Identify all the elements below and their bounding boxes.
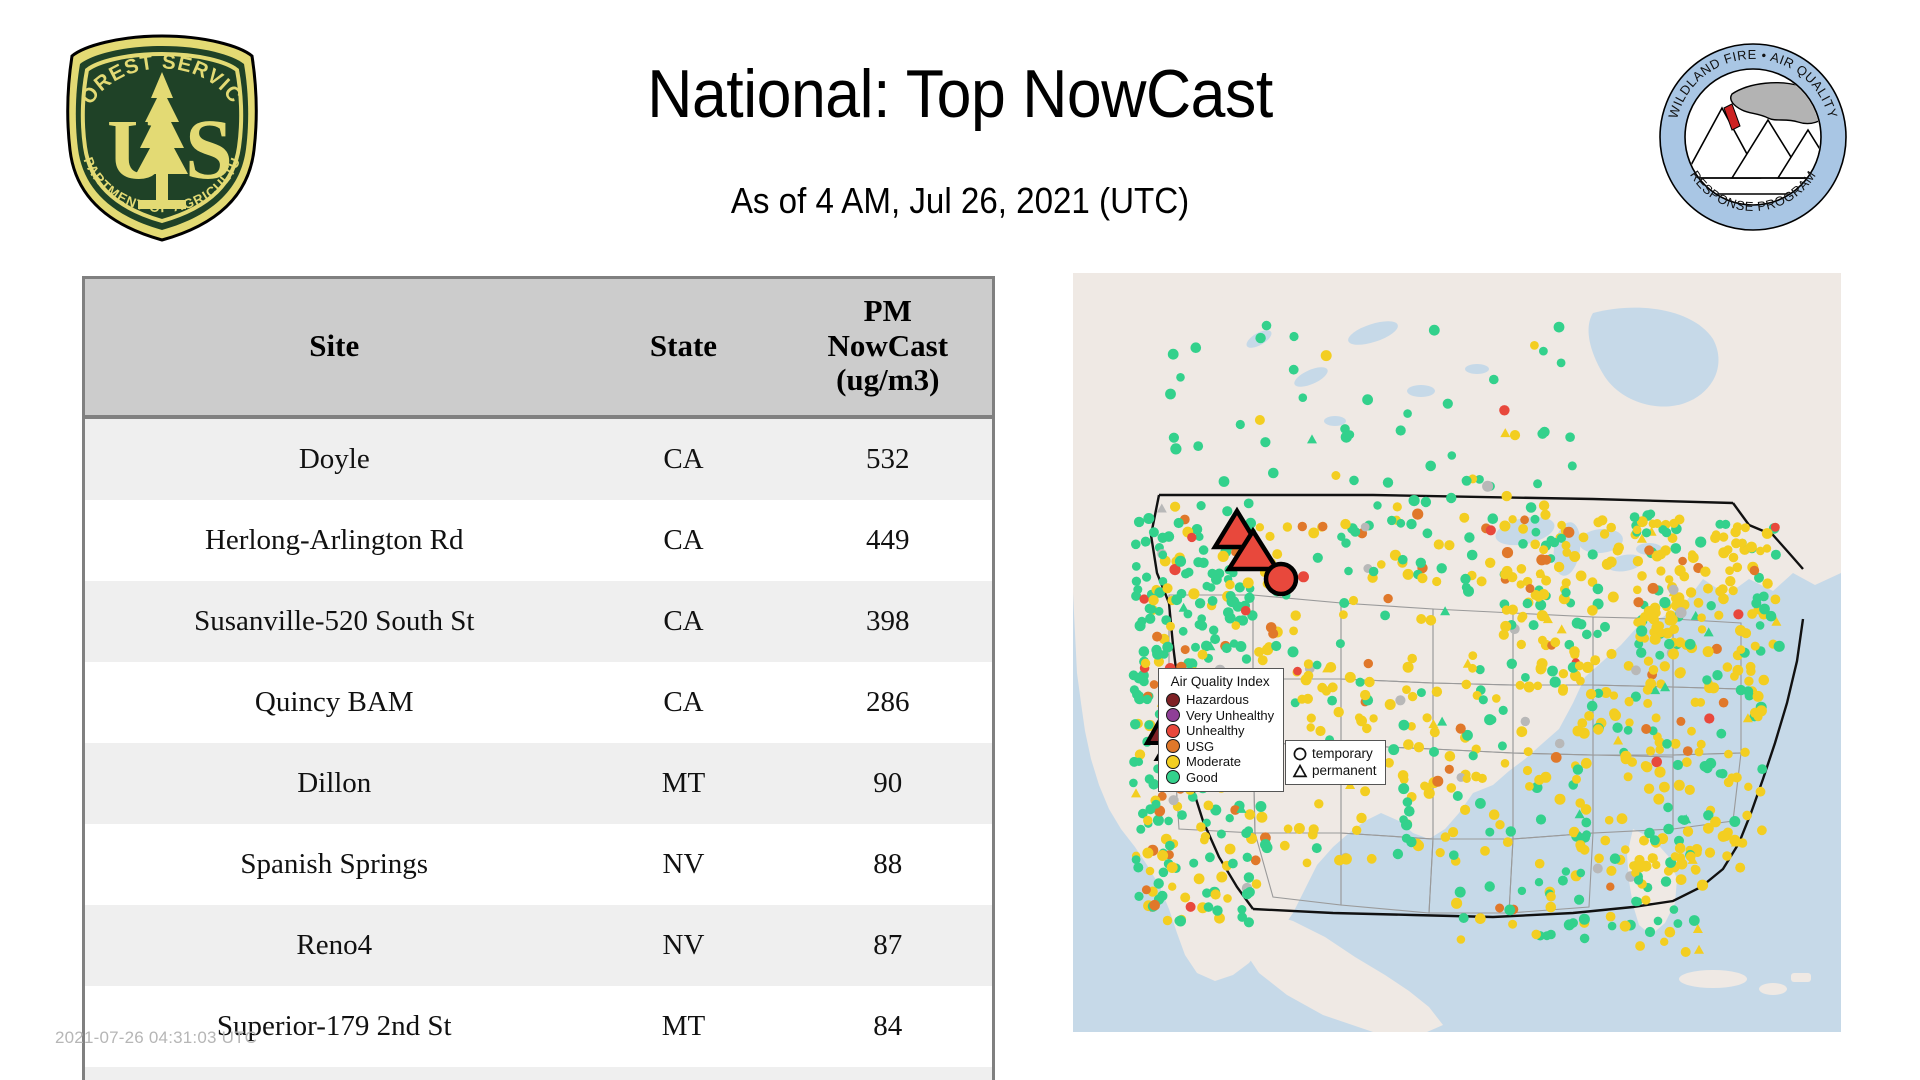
map-monitor-dot <box>1469 751 1478 760</box>
map-monitor-dot <box>1181 569 1190 578</box>
map-monitor-dot <box>1455 887 1466 898</box>
map-monitor-dot <box>1502 605 1511 614</box>
map-monitor-dot <box>1315 726 1325 736</box>
map-monitor-dot <box>1669 624 1679 634</box>
map-monitor-dot <box>1652 713 1661 722</box>
map-monitor-dot <box>1441 832 1451 842</box>
page-subtitle: As of 4 AM, Jul 26, 2021 (UTC) <box>445 180 1475 222</box>
map-monitor-dot <box>1425 461 1436 472</box>
map-monitor-dot <box>1437 563 1447 573</box>
map-monitor-dot <box>1225 580 1234 589</box>
map-monitor-dot <box>1404 806 1415 817</box>
map-monitor-dot <box>1167 862 1178 873</box>
map-monitor-dot <box>1222 506 1232 516</box>
map-monitor-dot <box>1581 804 1592 815</box>
map-monitor-dot <box>1303 694 1313 704</box>
map-monitor-dot <box>1479 695 1488 704</box>
map-monitor-dot <box>1757 825 1767 835</box>
map-monitor-dot <box>1750 566 1760 576</box>
map-monitor-dot <box>1133 585 1142 594</box>
aqi-legend-label: Unhealthy <box>1186 724 1245 737</box>
map-monitor-dot <box>1637 861 1647 871</box>
map-monitor-dot <box>1593 864 1603 874</box>
map-monitor-dot <box>1314 799 1323 808</box>
map-monitor-dot <box>1582 630 1592 640</box>
map-monitor-dot <box>1293 667 1302 676</box>
map-monitor-dot <box>1633 897 1642 906</box>
map-monitor-dot <box>1718 831 1729 842</box>
aqi-legend-swatch-icon <box>1166 739 1180 753</box>
map-monitor-dot <box>1307 723 1315 731</box>
map-monitor-dot <box>1294 823 1305 834</box>
map-monitor-dot <box>1364 677 1374 687</box>
map-monitor-dot <box>1176 373 1185 382</box>
map-monitor-dot <box>1771 523 1780 532</box>
map-monitor-dot <box>1406 837 1416 847</box>
map-monitor-dot <box>1134 892 1143 901</box>
map-monitor-dot <box>1688 552 1699 563</box>
map-monitor-dot <box>1536 569 1545 578</box>
map-monitor-dot <box>1486 525 1496 535</box>
top-nowcast-table: Site State PM NowCast (ug/m3) DoyleCA532… <box>82 276 995 1080</box>
map-monitor-dot <box>1429 747 1439 757</box>
map-monitor-dot <box>1673 760 1683 770</box>
map-monitor-dot <box>1403 797 1413 807</box>
map-monitor-dot <box>1703 584 1713 594</box>
map-monitor-dot <box>1165 841 1175 851</box>
map-monitor-dot <box>1524 747 1533 756</box>
map-monitor-dot <box>1737 645 1746 654</box>
map-monitor-dot <box>1575 661 1584 670</box>
map-monitor-dot <box>1142 848 1153 859</box>
table-cell-site: Herlong-Arlington Rd <box>84 500 584 581</box>
map-monitor-dot <box>1243 853 1252 862</box>
air-quality-monitor-map[interactable]: Air Quality Index HazardousVery Unhealth… <box>1073 273 1841 1032</box>
map-monitor-dot <box>1393 502 1402 511</box>
map-monitor-dot <box>1135 758 1143 766</box>
map-monitor-dot <box>1432 687 1442 697</box>
map-monitor-dot <box>1507 659 1517 669</box>
map-monitor-dot <box>1635 941 1645 951</box>
map-monitor-dot <box>1312 843 1322 853</box>
map-monitor-dot <box>1510 430 1520 440</box>
map-monitor-dot <box>1457 935 1466 944</box>
wildland-fire-air-quality-response-program-logo: WILDLAND FIRE • AIR QUALITY RESPONSE PRO… <box>1658 42 1848 232</box>
map-monitor-dot <box>1171 594 1182 605</box>
map-monitor-dot <box>1406 519 1416 529</box>
map-monitor-dot <box>1364 659 1373 668</box>
map-monitor-dot <box>1579 533 1589 543</box>
table-cell-state: NV <box>584 824 784 905</box>
map-monitor-dot <box>1187 533 1196 542</box>
map-monitor-dot <box>1665 927 1676 938</box>
map-monitor-dot <box>1675 607 1686 618</box>
map-monitor-dot <box>1645 927 1655 937</box>
map-monitor-dot <box>1718 584 1728 594</box>
map-monitor-dot <box>1725 566 1734 575</box>
map-monitor-dot <box>1245 809 1256 820</box>
map-monitor-dot <box>1762 578 1772 588</box>
map-monitor-dot <box>1228 859 1238 869</box>
map-monitor-dot <box>1387 516 1396 525</box>
map-monitor-dot <box>1385 699 1396 710</box>
map-monitor-dot <box>1193 441 1203 451</box>
map-monitor-dot <box>1226 814 1234 822</box>
map-monitor-dot <box>1586 689 1596 699</box>
map-monitor-dot <box>1403 739 1414 750</box>
map-monitor-dot <box>1696 698 1705 707</box>
map-monitor-dot <box>1633 526 1642 535</box>
map-monitor-dot <box>1396 519 1405 528</box>
map-monitor-dot <box>1143 816 1152 825</box>
map-monitor-dot <box>1663 803 1673 813</box>
map-monitor-dot <box>1582 830 1591 839</box>
map-monitor-dot <box>1216 872 1227 883</box>
map-monitor-dot <box>1715 520 1724 529</box>
map-monitor-dot <box>1608 592 1619 603</box>
map-monitor-dot <box>1524 682 1535 693</box>
map-monitor-dot <box>1689 915 1700 926</box>
map-monitor-dot <box>1575 840 1585 850</box>
map-monitor-dot <box>1664 639 1674 649</box>
map-monitor-dot <box>1502 491 1512 501</box>
table-row: SparksNV81 <box>84 1067 994 1080</box>
map-monitor-dot <box>1360 690 1370 700</box>
map-monitor-dot <box>1691 865 1699 873</box>
map-monitor-dot <box>1170 443 1181 454</box>
map-monitor-dot <box>1577 869 1586 878</box>
map-monitor-dot <box>1203 582 1212 591</box>
map-monitor-dot <box>1621 845 1630 854</box>
map-monitor-dot <box>1695 537 1706 548</box>
map-monitor-dot <box>1538 636 1547 645</box>
map-monitor-dot <box>1554 562 1564 572</box>
table-row: Herlong-Arlington RdCA449 <box>84 500 994 581</box>
map-monitor-dot <box>1606 649 1616 659</box>
map-monitor-dot <box>1218 551 1229 562</box>
map-monitor-dot <box>1174 916 1183 925</box>
aqi-legend-row: Good <box>1166 770 1274 786</box>
map-monitor-dot <box>1191 643 1200 652</box>
map-monitor-dot <box>1719 698 1729 708</box>
map-monitor-dot <box>1201 832 1210 841</box>
map-monitor-dot <box>1593 630 1601 638</box>
map-monitor-dot <box>1656 550 1666 560</box>
map-monitor-dot <box>1606 866 1616 876</box>
map-monitor-dot <box>1299 393 1308 402</box>
map-monitor-dot <box>1600 836 1610 846</box>
map-monitor-dot <box>1665 575 1673 583</box>
map-monitor-dot <box>1606 557 1617 568</box>
map-monitor-dot <box>1204 801 1214 811</box>
map-monitor-dot <box>1558 876 1568 886</box>
map-monitor-dot <box>1225 844 1236 855</box>
map-monitor-dot <box>1729 553 1739 563</box>
map-monitor-dot <box>1283 522 1292 531</box>
map-monitor-dot <box>1646 746 1655 755</box>
map-monitor-dot <box>1540 510 1550 520</box>
map-monitor-dot <box>1423 528 1433 538</box>
map-monitor-dot <box>1462 583 1471 592</box>
map-monitor-dot <box>1133 863 1143 873</box>
map-monitor-dot <box>1196 822 1206 832</box>
map-monitor-dot <box>1162 642 1173 653</box>
symbol-legend: temporary permanent <box>1285 740 1386 785</box>
map-monitor-dot <box>1517 564 1527 574</box>
map-monitor-dot <box>1685 639 1696 650</box>
map-monitor-dot <box>1367 854 1377 864</box>
map-monitor-dot <box>1678 557 1687 566</box>
map-monitor-dot <box>1722 851 1732 861</box>
map-monitor-dot <box>1600 529 1609 538</box>
aqi-legend-swatch-icon <box>1166 755 1180 769</box>
map-monitor-dot <box>1606 912 1616 922</box>
map-monitor-dot <box>1751 642 1760 651</box>
map-monitor-dot <box>1409 495 1420 506</box>
map-monitor-dot <box>1499 706 1508 715</box>
map-monitor-dot <box>1662 528 1672 538</box>
map-monitor-dot <box>1304 659 1313 668</box>
aqi-legend-title: Air Quality Index <box>1166 674 1274 689</box>
map-monitor-dot <box>1581 758 1592 769</box>
map-monitor-dot <box>1142 573 1151 582</box>
table-cell-site: Dillon <box>84 743 584 824</box>
map-monitor-dot <box>1130 719 1140 729</box>
map-monitor-dot <box>1488 513 1499 524</box>
map-monitor-dot <box>1344 567 1353 576</box>
map-monitor-dot <box>1142 885 1151 894</box>
map-monitor-dot <box>1744 677 1753 686</box>
map-monitor-dot <box>1535 878 1543 886</box>
map-monitor-dot <box>1546 892 1556 902</box>
map-monitor-dot <box>1331 471 1340 480</box>
map-monitor-dot <box>1656 566 1665 575</box>
map-monitor-dot <box>1530 540 1540 550</box>
map-monitor-dot <box>1165 389 1176 400</box>
map-monitor-dot <box>1412 509 1423 520</box>
map-monitor-dot <box>1456 724 1466 734</box>
map-monitor-dot <box>1152 800 1161 809</box>
map-monitor-dot <box>1587 701 1598 712</box>
map-monitor-dot <box>1636 648 1646 658</box>
map-monitor-dot <box>1289 365 1299 375</box>
map-monitor-dot <box>1237 905 1246 914</box>
map-monitor-dot <box>1129 779 1138 788</box>
map-monitor-dot <box>1671 543 1682 554</box>
map-monitor-dot <box>1489 809 1500 820</box>
table-cell-state: CA <box>584 500 784 581</box>
aqi-legend-label: Good <box>1186 771 1218 784</box>
map-monitor-dot <box>1647 613 1656 622</box>
map-monitor-dot <box>1477 576 1487 586</box>
map-monitor-dot <box>1268 629 1278 639</box>
map-monitor-dot <box>1669 519 1678 528</box>
map-monitor-dot <box>1170 502 1180 512</box>
map-monitor-dot <box>1576 677 1585 686</box>
map-monitor-dot <box>1341 853 1352 864</box>
map-monitor-dot <box>1697 740 1706 749</box>
map-monitor-dot <box>1383 477 1393 487</box>
map-monitor-dot <box>1565 432 1575 442</box>
map-monitor-dot <box>1605 816 1614 825</box>
map-monitor-dot <box>1211 889 1221 899</box>
map-monitor-dot <box>1547 666 1558 677</box>
map-monitor-dot <box>1518 524 1528 534</box>
map-monitor-dot <box>1462 680 1472 690</box>
column-header-site: Site <box>84 278 584 418</box>
map-monitor-dot <box>1242 654 1251 663</box>
map-monitor-dot <box>1727 773 1736 782</box>
map-monitor-dot <box>1771 550 1781 560</box>
map-monitor-dot <box>1298 571 1309 582</box>
map-monitor-dot <box>1443 399 1453 409</box>
map-monitor-dot <box>1624 772 1633 781</box>
map-monitor-dot <box>1417 573 1427 583</box>
aqi-legend-row: Unhealthy <box>1166 723 1274 739</box>
map-monitor-dot <box>1508 920 1517 929</box>
map-monitor-dot <box>1291 610 1301 620</box>
map-monitor-dot <box>1191 342 1202 353</box>
map-monitor-dot <box>1554 322 1565 333</box>
map-monitor-dot <box>1369 567 1379 577</box>
map-monitor-dot <box>1157 850 1168 861</box>
map-monitor-dot <box>1546 930 1556 940</box>
table-cell-site: Doyle <box>84 417 584 500</box>
map-monitor-dot <box>1733 609 1743 619</box>
map-monitor-dot <box>1663 824 1674 835</box>
map-monitor-dot <box>1526 584 1535 593</box>
map-monitor-dot <box>1670 905 1679 914</box>
map-monitor-dot <box>1576 571 1587 582</box>
map-monitor-dot <box>1499 405 1509 415</box>
map-monitor-dot <box>1244 499 1254 509</box>
map-monitor-dot <box>1288 646 1299 657</box>
map-monitor-dot <box>1534 682 1543 691</box>
map-monitor-dot <box>1738 539 1747 548</box>
map-monitor-dot <box>1668 585 1678 595</box>
map-monitor-dot <box>1609 708 1619 718</box>
map-monitor-dot <box>1572 618 1583 629</box>
map-monitor-dot <box>1666 610 1676 620</box>
map-monitor-dot <box>1516 726 1527 737</box>
map-monitor-dot <box>1675 668 1686 679</box>
table-cell-pm: 398 <box>784 581 994 662</box>
map-monitor-dot <box>1636 625 1647 636</box>
map-monitor-dot <box>1662 739 1672 749</box>
map-monitor-dot <box>1724 545 1733 554</box>
map-monitor-dot <box>1141 659 1150 668</box>
map-monitor-dot <box>1648 853 1658 863</box>
map-monitor-dot <box>1573 726 1584 737</box>
map-monitor-dot <box>1555 794 1566 805</box>
map-monitor-dot <box>1475 913 1486 924</box>
map-monitor-dot <box>1633 597 1643 607</box>
map-monitor-dot <box>1313 661 1322 670</box>
map-monitor-dot <box>1676 859 1687 870</box>
map-monitor-dot <box>1436 848 1445 857</box>
map-monitor-dot <box>1153 815 1164 826</box>
map-monitor-dot <box>1740 748 1749 757</box>
map-monitor-dot <box>1243 577 1254 588</box>
map-monitor-dot <box>1152 632 1162 642</box>
map-monitor-dot <box>1745 691 1754 700</box>
map-monitor-dot <box>1531 515 1540 524</box>
map-monitor-dot <box>1633 556 1643 566</box>
map-monitor-dot <box>1204 902 1214 912</box>
table-cell-site: Spanish Springs <box>84 824 584 905</box>
map-monitor-dot <box>1241 606 1251 616</box>
table-cell-site: Quincy BAM <box>84 662 584 743</box>
map-monitor-dot <box>1719 532 1728 541</box>
map-monitor-dot <box>1660 938 1668 946</box>
map-monitor-dot <box>1198 558 1208 568</box>
map-monitor-dot <box>1695 748 1704 757</box>
map-monitor-dot <box>1584 711 1594 721</box>
map-monitor-dot <box>1356 678 1365 687</box>
table-cell-pm: 81 <box>784 1067 994 1080</box>
map-monitor-dot <box>1702 675 1711 684</box>
map-monitor-dot <box>1733 665 1744 676</box>
map-monitor-dot <box>1369 714 1377 722</box>
map-canvas[interactable] <box>1073 273 1841 1032</box>
map-monitor-dot <box>1489 375 1499 385</box>
aqi-legend-label: Hazardous <box>1186 693 1249 706</box>
map-monitor-dot <box>1460 574 1470 584</box>
map-monitor-dot <box>1136 825 1145 834</box>
map-monitor-dot <box>1612 723 1622 733</box>
map-monitor-dot <box>1232 621 1241 630</box>
map-monitor-dot <box>1256 812 1267 823</box>
map-monitor-dot <box>1741 523 1750 532</box>
map-monitor-dot <box>1600 622 1610 632</box>
map-monitor-dot <box>1262 842 1273 853</box>
map-monitor-dot <box>1251 855 1261 865</box>
map-monitor-dot <box>1705 848 1715 858</box>
map-monitor-dot <box>1588 549 1598 559</box>
map-monitor-dot <box>1535 859 1545 869</box>
map-monitor-dot <box>1536 663 1547 674</box>
map-monitor-dot <box>1624 726 1633 735</box>
map-monitor-dot <box>1671 852 1680 861</box>
map-monitor-dot <box>1177 810 1187 820</box>
map-monitor-dot <box>1518 612 1527 621</box>
map-monitor-dot <box>1593 517 1603 527</box>
map-monitor-dot <box>1174 518 1184 528</box>
map-monitor-dot <box>1686 587 1696 597</box>
map-monitor-dot <box>1551 752 1562 763</box>
table-row: Susanville-520 South StCA398 <box>84 581 994 662</box>
map-monitor-dot <box>1149 527 1159 537</box>
map-monitor-dot <box>1393 849 1403 859</box>
map-monitor-dot <box>1460 805 1470 815</box>
map-monitor-dot <box>1180 893 1190 903</box>
map-monitor-dot <box>1373 501 1381 509</box>
map-monitor-dot <box>1265 532 1274 541</box>
map-monitor-dot <box>1521 673 1530 682</box>
map-monitor-dot <box>1646 510 1655 519</box>
map-monitor-dot <box>1676 874 1687 885</box>
map-monitor-dot <box>1681 947 1691 957</box>
map-monitor-dot <box>1492 694 1501 703</box>
map-monitor-dot <box>1700 567 1710 577</box>
table-cell-state: NV <box>584 905 784 986</box>
table-cell-state: NV <box>584 1067 784 1080</box>
footer-timestamp: 2021-07-26 04:31:03 UTC <box>55 1028 257 1048</box>
usda-forest-service-shield-logo: FOREST SERVICE U S DEPARTMENT OF AGRICUL… <box>55 30 270 245</box>
map-monitor-dot <box>1707 601 1716 610</box>
map-monitor-dot <box>1467 550 1478 561</box>
map-monitor-dot <box>1573 764 1583 774</box>
